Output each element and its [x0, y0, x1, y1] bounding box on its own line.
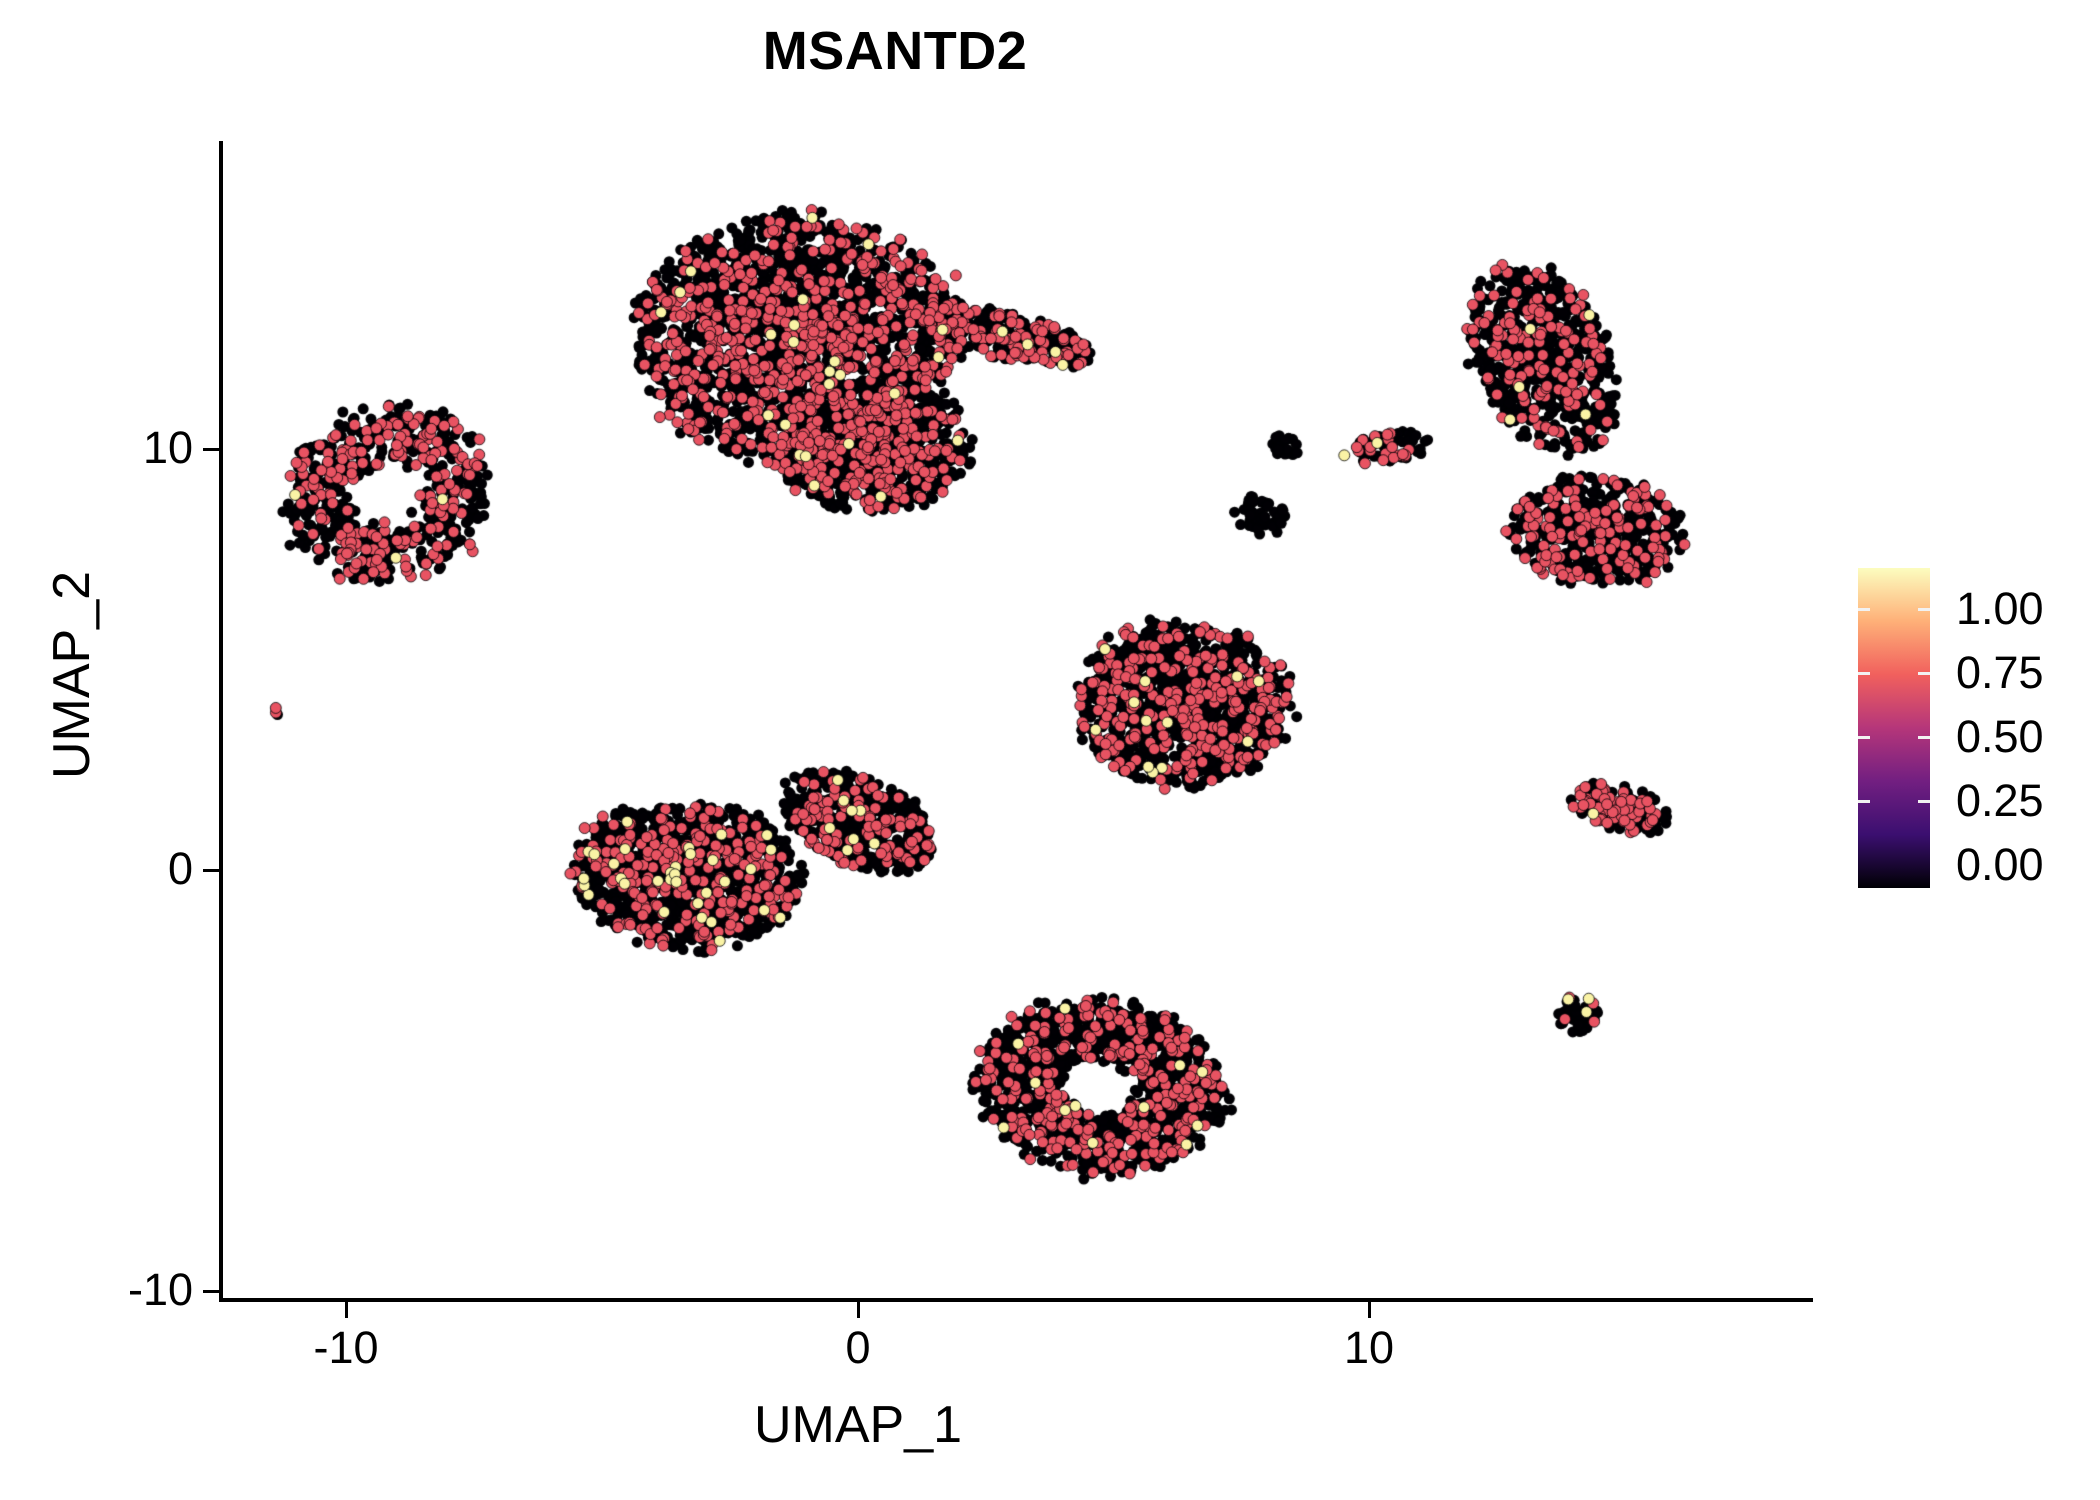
- y-tick-mark-0: [203, 448, 219, 451]
- legend-label-2: 0.50: [1956, 714, 2044, 759]
- x-tick-mark-2: [1368, 1302, 1371, 1318]
- legend-tick-0-75-right: [1918, 672, 1930, 675]
- scatter-points-layer: [223, 141, 1813, 1300]
- legend-tick-0-50-right: [1918, 736, 1930, 739]
- scatter-plot-panel[interactable]: [223, 141, 1813, 1300]
- legend-tick-0-50-left: [1858, 736, 1870, 739]
- legend-label-3: 0.25: [1956, 778, 2044, 823]
- color-legend[interactable]: 1.00 0.75 0.50 0.25 0.00: [1858, 568, 2088, 934]
- color-legend-gradient: [1858, 568, 1930, 888]
- legend-tick-1-00-left: [1858, 608, 1870, 611]
- y-tick-mark-2: [203, 1290, 219, 1293]
- legend-label-4: 0.00: [1956, 842, 2044, 887]
- x-axis-line: [219, 1298, 1813, 1302]
- x-tick-label-1: 0: [758, 1322, 958, 1374]
- color-legend-bar[interactable]: [1858, 568, 1930, 888]
- legend-tick-0-25-left: [1858, 800, 1870, 803]
- legend-tick-0-25-right: [1918, 800, 1930, 803]
- x-axis-title: UMAP_1: [223, 1395, 1493, 1455]
- y-axis-line: [219, 141, 223, 1302]
- x-tick-label-2: 10: [1269, 1322, 1469, 1374]
- y-tick-mark-1: [203, 869, 219, 872]
- x-tick-label-0: -10: [246, 1322, 446, 1374]
- legend-tick-0-75-left: [1858, 672, 1870, 675]
- legend-label-0: 1.00: [1956, 586, 2044, 631]
- legend-tick-1-00-right: [1918, 608, 1930, 611]
- y-axis-title: UMAP_2: [42, 325, 102, 1025]
- page-title: MSANTD2: [0, 22, 1790, 81]
- x-tick-mark-0: [345, 1302, 348, 1318]
- x-tick-mark-1: [857, 1302, 860, 1318]
- y-tick-label-2: -10: [0, 1264, 193, 1316]
- legend-label-1: 0.75: [1956, 650, 2044, 695]
- umap-feature-plot: MSANTD2 -10 0 10 10 0 -10 UMAP_1 UMAP_2 …: [0, 0, 2100, 1500]
